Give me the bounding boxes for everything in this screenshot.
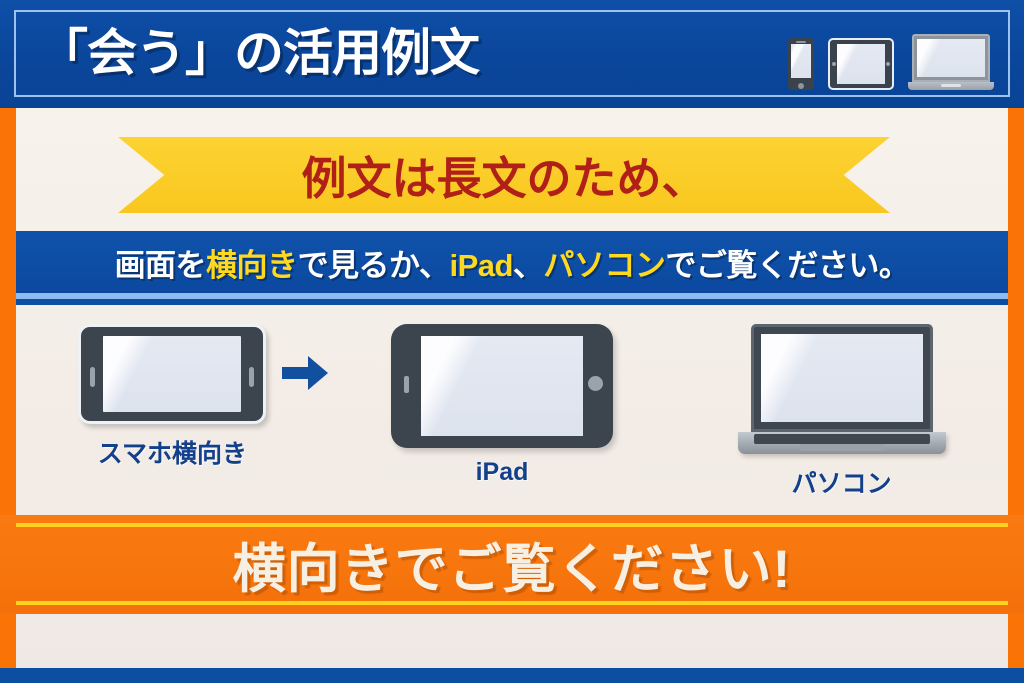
device-item-laptop: パソコン bbox=[738, 324, 946, 500]
laptop-lid bbox=[751, 324, 933, 432]
laptop-lid bbox=[912, 34, 990, 82]
phone-speaker bbox=[796, 41, 806, 43]
laptop-screen bbox=[917, 39, 985, 77]
callout-line-bottom bbox=[16, 601, 1008, 605]
tablet-home-button bbox=[588, 376, 603, 391]
phone-home-button bbox=[249, 367, 254, 387]
header-bar: 「会う」の活用例文 bbox=[0, 0, 1024, 108]
phone-screen bbox=[103, 336, 241, 412]
tablet-landscape-icon bbox=[391, 324, 613, 448]
smartphone-icon bbox=[788, 38, 814, 90]
ribbon-banner: 例文は長文のため、 bbox=[118, 137, 890, 213]
laptop-base bbox=[738, 432, 946, 454]
notice-seg-0: 画面を bbox=[115, 248, 207, 283]
laptop-icon bbox=[738, 324, 946, 454]
callout-banner: 横向きでご覧ください! bbox=[0, 515, 1024, 614]
slide-canvas: 「会う」の活用例文 例文は長文のため、 bbox=[0, 0, 1024, 683]
header-device-icons bbox=[788, 20, 994, 90]
notice-seg-1: 横向き bbox=[206, 248, 298, 283]
laptop-base bbox=[908, 82, 994, 90]
notice-seg-5: パソコン bbox=[543, 248, 665, 283]
tablet-screen bbox=[421, 336, 583, 436]
laptop-keyboard bbox=[754, 434, 930, 444]
arrow-right-icon bbox=[282, 356, 328, 390]
tablet-screen bbox=[837, 44, 885, 84]
notice-seg-3: iPad bbox=[449, 248, 512, 283]
tablet-camera-dot bbox=[832, 62, 836, 66]
notice-text: 画面を横向きで見るか、iPad、パソコンでご覧ください。 bbox=[115, 240, 910, 285]
phone-home-button bbox=[798, 83, 804, 89]
notice-seg-2: で見るか、 bbox=[298, 248, 450, 283]
tablet-home-dot bbox=[886, 62, 890, 66]
page-title: 「会う」の活用例文 bbox=[38, 18, 479, 88]
callout-text: 横向きでご覧ください! bbox=[0, 515, 1024, 614]
tablet-icon bbox=[828, 38, 894, 90]
laptop-icon bbox=[908, 34, 994, 90]
footer-strip bbox=[0, 668, 1024, 683]
laptop-trackpad bbox=[800, 444, 884, 451]
tablet-camera-dot bbox=[404, 376, 409, 393]
device-caption-tablet: iPad bbox=[476, 458, 529, 487]
notice-bar: 画面を横向きで見るか、iPad、パソコンでご覧ください。 bbox=[16, 231, 1008, 293]
device-item-tablet: iPad bbox=[391, 324, 613, 487]
phone-landscape-icon bbox=[78, 324, 266, 424]
notice-seg-4: 、 bbox=[513, 248, 544, 283]
ribbon-text: 例文は長文のため、 bbox=[118, 137, 890, 213]
notice-seg-6: でご覧ください。 bbox=[665, 248, 909, 283]
device-caption-laptop: パソコン bbox=[792, 464, 892, 500]
notice-underline-dark bbox=[16, 299, 1008, 305]
device-illustration-row: スマホ横向き iPad パソコン bbox=[16, 310, 1008, 510]
phone-speaker bbox=[90, 367, 95, 387]
laptop-screen bbox=[761, 334, 923, 422]
phone-screen bbox=[791, 44, 811, 78]
device-item-phone: スマホ横向き bbox=[78, 324, 266, 470]
device-caption-phone: スマホ横向き bbox=[98, 434, 247, 470]
